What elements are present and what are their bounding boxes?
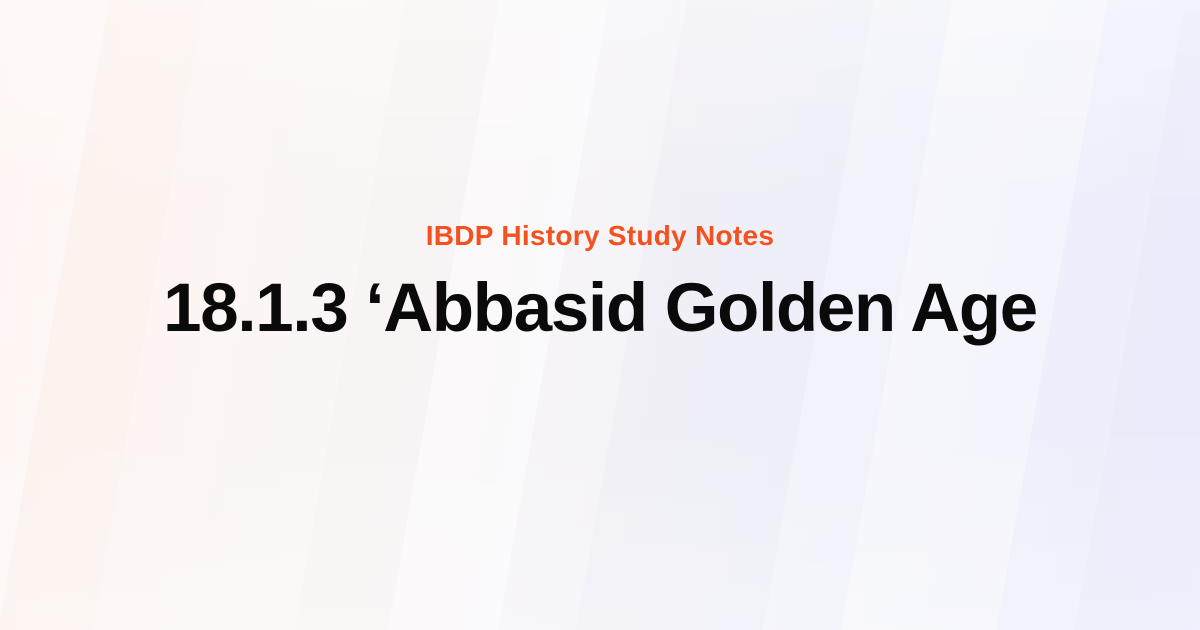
og-card: IBDP History Study Notes 18.1.3 ‘Abbasid… [0, 0, 1200, 630]
page-title: 18.1.3 ‘Abbasid Golden Age [163, 270, 1037, 346]
eyebrow-label: IBDP History Study Notes [426, 220, 775, 252]
card-content: IBDP History Study Notes 18.1.3 ‘Abbasid… [0, 0, 1200, 630]
